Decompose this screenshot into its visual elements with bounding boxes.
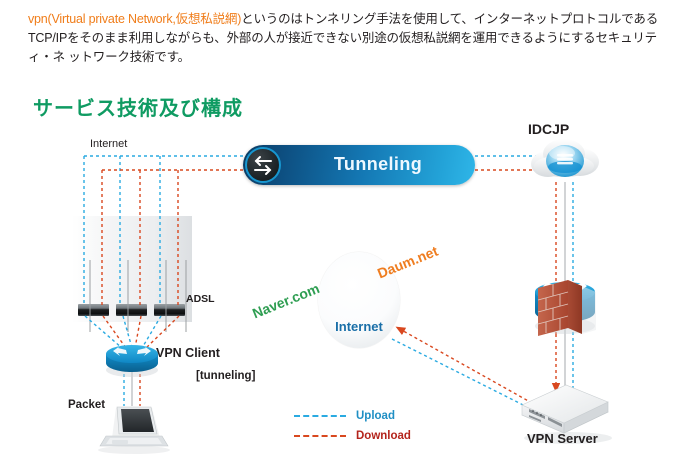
download-dash-swatch — [294, 435, 346, 437]
internet-top-label: Internet — [90, 138, 127, 150]
tunneling-banner[interactable]: Tunneling — [243, 145, 475, 185]
idcjp-label: IDCJP — [528, 121, 569, 137]
tunneling-note-label: [tunneling] — [196, 370, 255, 382]
laptop-icon — [98, 407, 170, 454]
packet-label: Packet — [68, 399, 105, 411]
intro-paragraph: vpn(Virtual private Network,仮想私説網)というのはト… — [28, 10, 660, 67]
vpn-client-label: VPN Client — [156, 346, 220, 360]
intro-line3: ットワーク技術です。 — [68, 50, 190, 64]
section-heading: サービス技術及び構成 — [33, 92, 243, 121]
adsl-label: ADSL — [186, 293, 215, 305]
internet-globe-label: Internet — [318, 319, 400, 334]
upload-dash-swatch — [294, 415, 346, 417]
vpn-client-router-icon — [106, 345, 158, 377]
legend-row-upload: Upload — [294, 406, 411, 426]
bidirectional-arrows-icon — [245, 147, 281, 183]
intro-highlight: vpn(Virtual private Network,仮想私説網) — [28, 12, 241, 26]
intro-line1-rest: というのはトンネリング手法を使用して、インターネットプロトコルである — [241, 12, 658, 26]
legend-label-download: Download — [356, 430, 411, 442]
adsl-antenna-lines — [90, 260, 186, 332]
cloud-icon — [531, 139, 599, 177]
diagram-legend: Upload Download — [294, 406, 411, 446]
firewall-brick-icon — [538, 280, 596, 336]
legend-row-download: Download — [294, 426, 411, 446]
vpn-server-label: VPN Server — [527, 431, 598, 446]
legend-label-upload: Upload — [356, 410, 395, 422]
tunneling-label: Tunneling — [291, 154, 465, 175]
network-diagram: Tunneling Internet Naver.com Daum.net In… — [0, 120, 680, 474]
